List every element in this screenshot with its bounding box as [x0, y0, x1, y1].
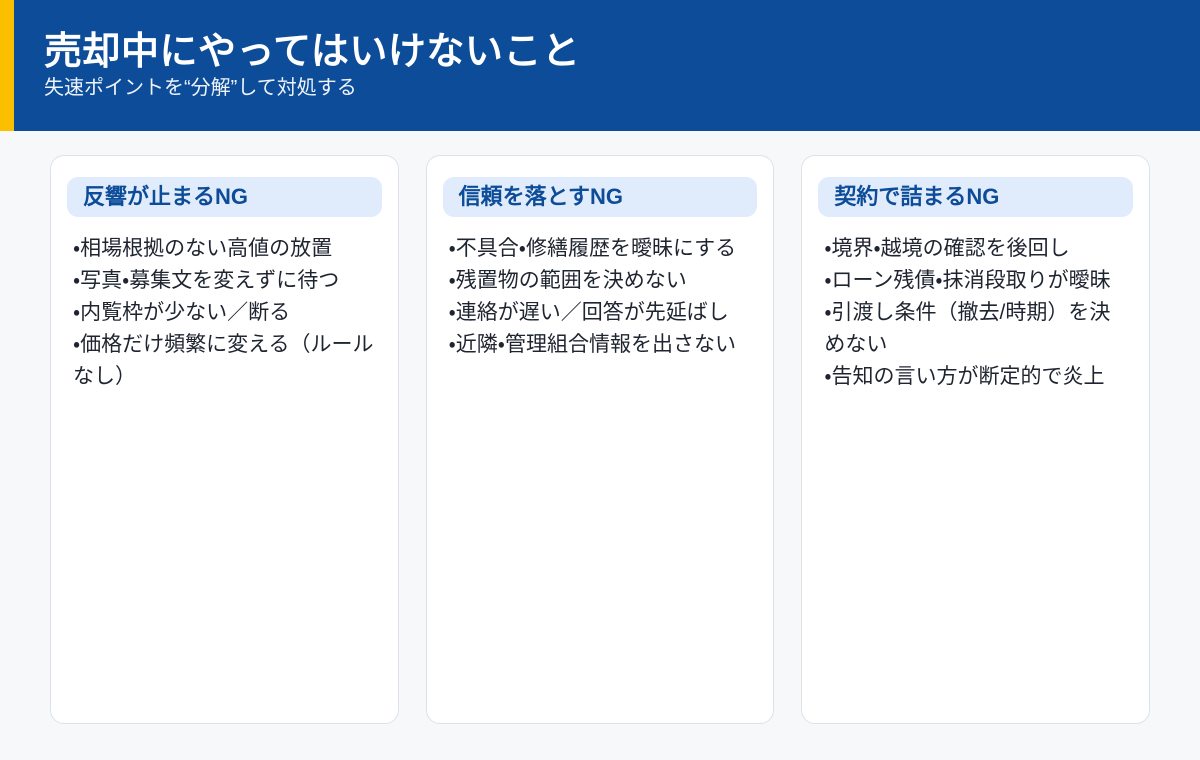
list-item: ・引渡し条件（撤去/時期）を決めない [824, 297, 1127, 361]
card-title-badge: 反響が止まるNG [67, 177, 382, 217]
ng-card-trust: 信頼を落とすNG ・不具合・修繕履歴を曖昧にする ・残置物の範囲を決めない ・連… [426, 155, 775, 724]
card-grid: 反響が止まるNG ・相場根拠のない高値の放置 ・写真・募集文を変えずに待つ ・内… [50, 155, 1150, 724]
ng-card-reaction: 反響が止まるNG ・相場根拠のない高値の放置 ・写真・募集文を変えずに待つ ・内… [50, 155, 399, 724]
list-item: ・内覧枠が少ない／断る [73, 297, 376, 329]
list-item: ・相場根拠のない高値の放置 [73, 233, 376, 265]
page-title: 売却中にやってはいけないこと [44, 31, 1200, 74]
list-item: ・価格だけ頻繁に変える（ルールなし） [73, 329, 376, 393]
page-subtitle: 失速ポイントを“分解”して対処する [44, 76, 1200, 100]
card-title-badge: 契約で詰まるNG [818, 177, 1133, 217]
header-accent-bar [0, 0, 14, 131]
card-item-list: ・相場根拠のない高値の放置 ・写真・募集文を変えずに待つ ・内覧枠が少ない／断る… [67, 233, 382, 393]
card-title-badge: 信頼を落とすNG [443, 177, 758, 217]
list-item: ・残置物の範囲を決めない [449, 265, 752, 297]
list-item: ・写真・募集文を変えずに待つ [73, 265, 376, 297]
list-item: ・告知の言い方が断定的で炎上 [824, 361, 1127, 393]
list-item: ・境界・越境の確認を後回し [824, 233, 1127, 265]
slide-header: 売却中にやってはいけないこと 失速ポイントを“分解”して対処する [0, 0, 1200, 131]
list-item: ・近隣・管理組合情報を出さない [449, 329, 752, 361]
list-item: ・連絡が遅い／回答が先延ばし [449, 297, 752, 329]
list-item: ・ローン残債・抹消段取りが曖昧 [824, 265, 1127, 297]
list-item: ・不具合・修繕履歴を曖昧にする [449, 233, 752, 265]
ng-card-contract: 契約で詰まるNG ・境界・越境の確認を後回し ・ローン残債・抹消段取りが曖昧 ・… [801, 155, 1150, 724]
card-item-list: ・境界・越境の確認を後回し ・ローン残債・抹消段取りが曖昧 ・引渡し条件（撤去/… [818, 233, 1133, 393]
card-item-list: ・不具合・修繕履歴を曖昧にする ・残置物の範囲を決めない ・連絡が遅い／回答が先… [443, 233, 758, 361]
